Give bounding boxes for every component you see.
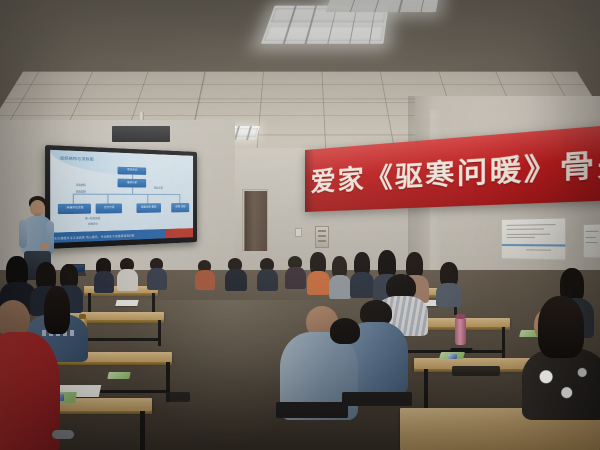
slide-connector-drop-a — [73, 194, 74, 204]
back-door[interactable] — [244, 191, 267, 251]
presenter-hand — [40, 243, 49, 250]
slide-connector-vertical — [132, 175, 133, 179]
pink-thermos-bottle — [455, 318, 466, 345]
slide-note-5: 成效评价 — [88, 223, 98, 226]
chair-back — [166, 392, 190, 402]
projection-screen: 组织结构与流程图 项目启动 需求分析 疼痛评估流程 治疗方案 康复训练 跟踪 结… — [45, 145, 197, 249]
slide-node-6: 结案 归档 — [171, 203, 189, 212]
attendee-hair — [44, 286, 70, 334]
presenter-arm-left — [19, 220, 27, 248]
ceiling-light-panel-secondary — [325, 0, 440, 12]
slide-title: 组织结构与流程图 — [60, 155, 94, 162]
light-switch[interactable] — [295, 228, 302, 237]
desk-leg — [502, 327, 505, 359]
slide-connector-drop-b — [108, 194, 109, 204]
desk-leg — [140, 411, 145, 450]
desk-leg — [158, 320, 161, 346]
slide-connector-drop-d — [179, 194, 180, 203]
wall-mounted-display-bracket — [112, 126, 170, 142]
projected-slide-surface: 组织结构与流程图 项目启动 需求分析 疼痛评估流程 治疗方案 康复训练 跟踪 结… — [50, 150, 193, 243]
desk-booklet-green — [107, 372, 130, 379]
attendee-hair — [538, 296, 584, 358]
wall-notice-poster-2 — [583, 223, 600, 258]
wall-notice-poster-1 — [501, 217, 566, 260]
slide-connector-horizontal — [73, 194, 181, 195]
presenter-arm-right — [46, 221, 54, 246]
slide-connector-drop-c — [147, 194, 148, 203]
slide-note-2: 风险控制 — [76, 191, 86, 194]
slide-note-1: 评估指标 — [76, 185, 86, 188]
slide-node-1: 项目启动 — [118, 167, 146, 175]
classroom-photo-scene: 组织结构与流程图 项目启动 需求分析 疼痛评估流程 治疗方案 康复训练 跟踪 结… — [0, 0, 600, 450]
slide-footer-text: 关注健康关注生活品质 用心服务，专业团队为您健康保驾护航 — [50, 228, 193, 243]
desk-booklet-blue — [448, 354, 457, 359]
chair-back — [276, 402, 348, 418]
chair-back — [452, 366, 500, 376]
desk-paper — [115, 300, 138, 306]
shoe — [52, 430, 74, 439]
attendee-red-torso — [0, 332, 60, 450]
desk-leg — [424, 369, 428, 409]
slide-node-5: 康复训练 跟踪 — [136, 203, 161, 213]
slide-connector-trunk — [132, 187, 133, 194]
slide-note-3: 随访记录 — [154, 188, 163, 191]
chair-back — [342, 392, 412, 406]
slide-node-3: 疼痛评估流程 — [58, 204, 91, 214]
slide-node-2: 需求分析 — [118, 179, 146, 187]
wall-mounted-control-box — [315, 226, 329, 248]
slide-note-4: 第一阶段实施 — [85, 218, 100, 221]
attendee-patterned-top — [522, 348, 600, 420]
slide-node-4: 治疗方案 — [96, 203, 122, 213]
